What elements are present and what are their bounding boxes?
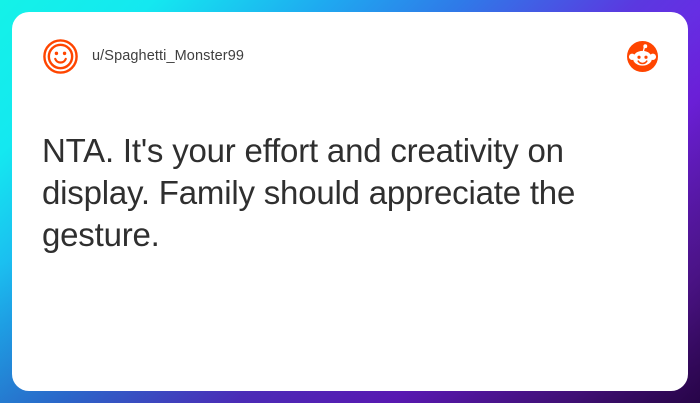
smiley-face-avatar-icon[interactable] [42,38,79,75]
username-label[interactable]: u/Spaghetti_Monster99 [92,48,244,64]
reddit-comment-card: u/Spaghetti_Monster99 NTA. It's y [12,12,688,391]
reddit-snoo-logo-icon[interactable] [627,41,658,72]
comment-body-text: NTA. It's your effort and creativity on … [42,130,642,256]
card-header: u/Spaghetti_Monster99 [42,34,658,78]
gradient-background: u/Spaghetti_Monster99 NTA. It's y [0,0,700,403]
